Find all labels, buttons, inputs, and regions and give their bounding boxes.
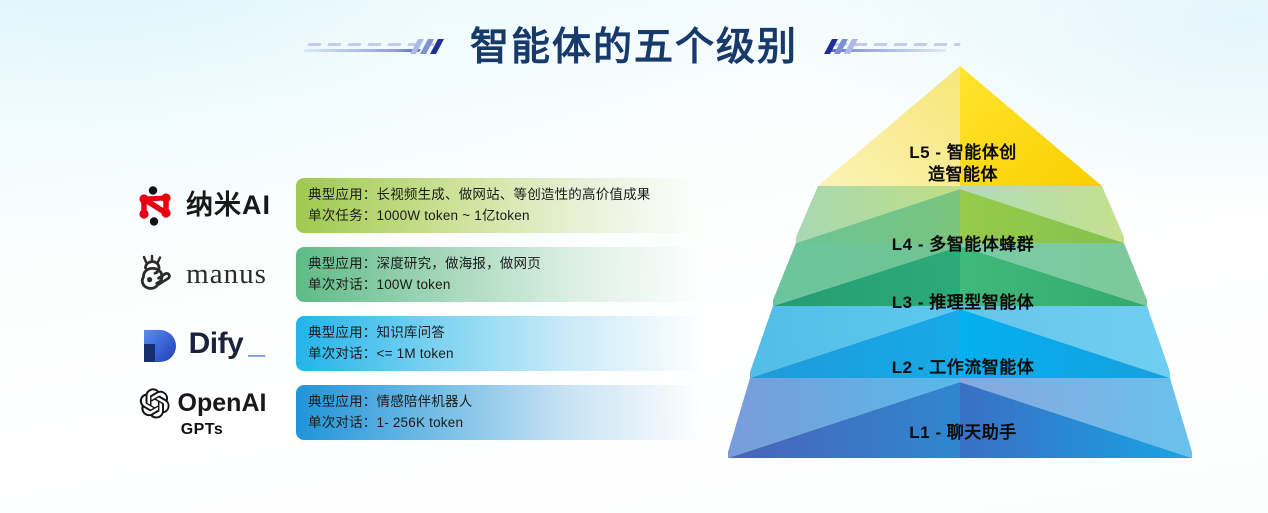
detail-value: 知识库问答 [377, 325, 446, 340]
detail-line: 典型应用：深度研究，做海报，做网页 [308, 253, 758, 274]
dify-underscore-icon: _ [248, 329, 264, 359]
ornament-slashes [828, 39, 854, 54]
detail-label: 单次对话： [308, 415, 377, 430]
pyramid-label-L4: L4 - 多智能体蜂群 [718, 234, 1208, 256]
tool-row: manus 典型应用：深度研究，做海报，做网页 单次对话：100W token [118, 247, 758, 302]
tool-list: 纳米AI 典型应用：长视频生成、做网站、等创造性的高价值成果 单次任务：1000… [118, 178, 758, 440]
detail-label: 单次对话： [308, 346, 377, 361]
tool-name: Dify [189, 329, 244, 359]
tool-logo-nami-ai: 纳米AI [118, 178, 286, 233]
tool-logo-openai: OpenAI GPTs [118, 385, 286, 440]
tool-row: 纳米AI 典型应用：长视频生成、做网站、等创造性的高价值成果 单次任务：1000… [118, 178, 758, 233]
detail-label: 典型应用： [308, 394, 377, 409]
detail-line: 典型应用：知识库问答 [308, 322, 758, 343]
tool-row: OpenAI GPTs 典型应用：情感陪伴机器人 单次对话：1- 256K to… [118, 385, 758, 440]
detail-line: 典型应用：长视频生成、做网站、等创造性的高价值成果 [308, 184, 758, 205]
detail-value: 1000W token ~ 1亿token [377, 208, 530, 223]
detail-line: 单次对话：100W token [308, 274, 758, 295]
tool-detail-pill: 典型应用：知识库问答 单次对话：<= 1M token [296, 316, 758, 371]
detail-value: <= 1M token [377, 346, 454, 361]
ornament-slashes [414, 39, 440, 54]
detail-value: 情感陪伴机器人 [377, 394, 473, 409]
pyramid-level-L1 [728, 378, 1192, 458]
tool-logo-dify: Dify _ [118, 316, 286, 371]
pyramid-label-L2: L2 - 工作流智能体 [718, 357, 1208, 379]
manus-hand-logo-icon [137, 254, 177, 296]
pyramid-label-L3: L3 - 推理型智能体 [718, 292, 1208, 314]
tool-name: OpenAI [178, 391, 267, 416]
tool-row: Dify _ 典型应用：知识库问答 单次对话：<= 1M token [118, 316, 758, 371]
detail-label: 典型应用： [308, 187, 377, 202]
agent-levels-pyramid: L5 - 智能体创 造智能体 L4 - 多智能体蜂群 L3 - 推理型智能体 L… [718, 60, 1208, 465]
openai-knot-logo-icon [138, 387, 171, 420]
tool-logo-manus: manus [118, 247, 286, 302]
detail-value: 长视频生成、做网站、等创造性的高价值成果 [377, 187, 651, 202]
pyramid-label-L1: L1 - 聊天助手 [718, 422, 1208, 444]
pyramid-label-L5: L5 - 智能体创 造智能体 [718, 142, 1208, 186]
detail-label: 单次对话： [308, 277, 377, 292]
detail-label: 典型应用： [308, 256, 377, 271]
tool-sub-name: GPTs [181, 422, 224, 438]
detail-label: 单次任务： [308, 208, 377, 223]
title-ornament-right-icon [826, 34, 968, 60]
tool-name: 纳米AI [186, 192, 271, 219]
detail-value: 100W token [377, 277, 451, 292]
tool-name: manus [186, 260, 267, 289]
detail-line: 单次对话：<= 1M token [308, 343, 758, 364]
tool-detail-pill: 典型应用：情感陪伴机器人 单次对话：1- 256K token [296, 385, 758, 440]
detail-value: 深度研究，做海报，做网页 [377, 256, 541, 271]
title-ornament-left-icon [300, 34, 442, 60]
pyramid-svg [718, 60, 1208, 465]
detail-line: 典型应用：情感陪伴机器人 [308, 391, 758, 412]
openai-wordmark: OpenAI [138, 387, 267, 420]
detail-label: 典型应用： [308, 325, 377, 340]
tool-detail-pill: 典型应用：深度研究，做海报，做网页 单次对话：100W token [296, 247, 758, 302]
dify-d-logo-icon [140, 324, 180, 364]
slide-canvas: 智能体的五个级别 纳米AI [0, 0, 1268, 513]
ornament-bar [303, 49, 421, 52]
tool-detail-pill: 典型应用：长视频生成、做网站、等创造性的高价值成果 单次任务：1000W tok… [296, 178, 758, 233]
nami-ai-network-logo-icon [133, 184, 177, 228]
detail-value: 1- 256K token [377, 415, 464, 430]
detail-line: 单次对话：1- 256K token [308, 412, 758, 433]
detail-line: 单次任务：1000W token ~ 1亿token [308, 205, 758, 226]
